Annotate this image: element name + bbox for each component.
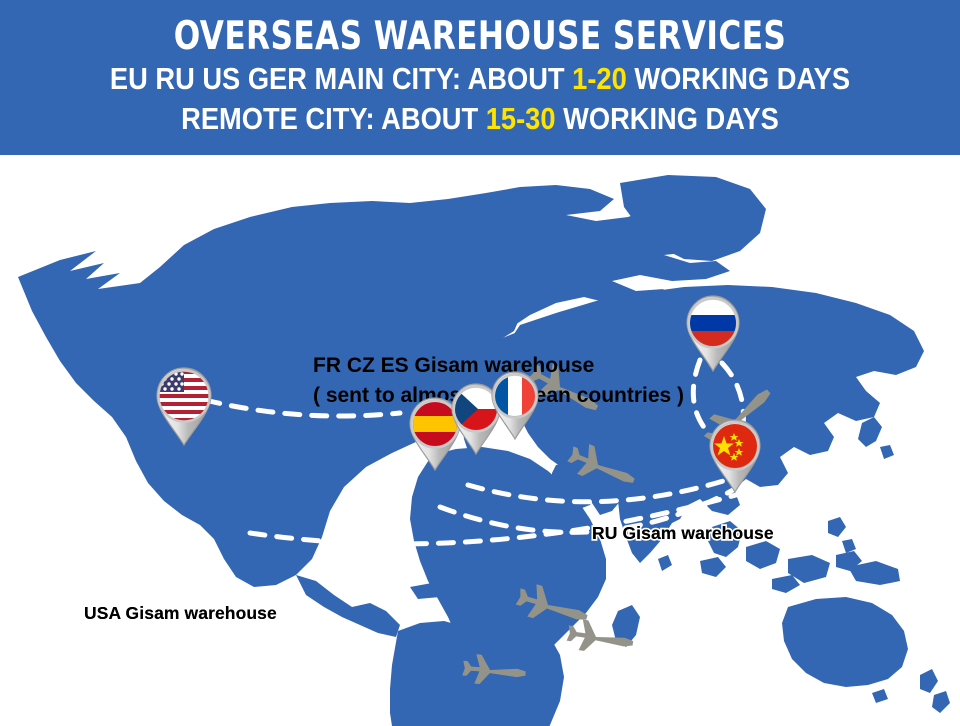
- header-banner: OVERSEAS WAREHOUSE SERVICES EU RU US GER…: [0, 0, 960, 155]
- map-pin-icon: [152, 365, 216, 449]
- map-pin-icon: [487, 369, 543, 445]
- banner-line-remote-city: REMOTE CITY: ABOUT 15-30 WORKING DAYS: [58, 102, 903, 136]
- japan: [858, 417, 894, 459]
- map-pin-icon: [682, 293, 744, 375]
- remote-city-days-highlight: 15-30: [486, 101, 556, 136]
- banner-line-main-city: EU RU US GER MAIN CITY: ABOUT 1-20 WORKI…: [58, 62, 903, 96]
- central-america: [296, 575, 400, 637]
- main-city-days-highlight: 1-20: [572, 61, 627, 96]
- new-zealand: [920, 669, 950, 713]
- main-city-text-post: WORKING DAYS: [627, 61, 850, 96]
- tasmania: [872, 689, 888, 703]
- overseas-warehouse-infographic: OVERSEAS WAREHOUSE SERVICES EU RU US GER…: [0, 0, 960, 726]
- sri-lanka: [658, 555, 672, 571]
- label-russia-warehouse-fill: RU Gisam warehouse: [592, 523, 774, 544]
- world-map-area: FR CZ ES Gisam warehouse ( sent to almos…: [0, 155, 960, 726]
- main-city-text-pre: EU RU US GER MAIN CITY: ABOUT: [110, 61, 572, 96]
- map-pin-russia[interactable]: [682, 293, 744, 375]
- remote-city-text-pre: REMOTE CITY: ABOUT: [181, 101, 486, 136]
- remote-city-text-post: WORKING DAYS: [556, 101, 779, 136]
- label-usa-warehouse-fill: USA Gisam warehouse: [84, 603, 277, 624]
- philippines: [828, 517, 856, 553]
- map-pin-france[interactable]: [487, 369, 543, 445]
- map-pin-china[interactable]: [705, 417, 765, 497]
- australia: [782, 597, 908, 687]
- map-pin-usa[interactable]: [152, 365, 216, 449]
- map-pin-icon: [705, 417, 765, 497]
- banner-title: OVERSEAS WAREHOUSE SERVICES: [96, 16, 864, 58]
